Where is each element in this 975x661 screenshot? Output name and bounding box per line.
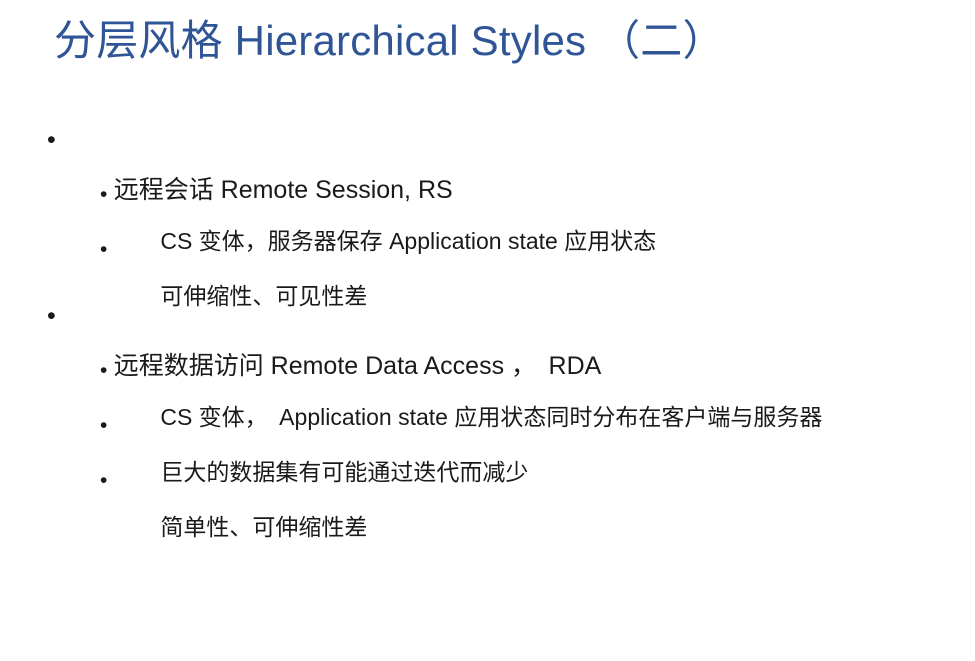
list-item: • 简单性、可伸缩性差 bbox=[0, 470, 975, 525]
slide-body: • 远程会话 Remote Session, RS • CS 变体，服务器保存 … bbox=[0, 128, 975, 525]
list-item: • 可伸缩性、可见性差 bbox=[0, 239, 975, 294]
bullet-marker-icon: • bbox=[47, 128, 65, 153]
bullet-marker-icon: • bbox=[100, 239, 118, 261]
bullet-marker-icon: • bbox=[100, 415, 118, 437]
list-item: • CS 变体， Application state 应用状态同时分布在客户端与… bbox=[0, 360, 975, 415]
list-item: • 远程会话 Remote Session, RS bbox=[0, 128, 975, 184]
list-item: • CS 变体，服务器保存 Application state 应用状态 bbox=[0, 184, 975, 239]
list-item-label: 简单性、可伸缩性差 bbox=[160, 514, 367, 540]
slide-canvas: 分层风格 Hierarchical Styles （二） • 远程会话 Remo… bbox=[0, 0, 975, 661]
list-item: • 巨大的数据集有可能通过迭代而减少 bbox=[0, 415, 975, 470]
bullet-marker-icon: • bbox=[100, 184, 118, 206]
bullet-marker-icon: • bbox=[47, 304, 65, 329]
bullet-marker-icon: • bbox=[100, 470, 118, 492]
list-item: • 远程数据访问 Remote Data Access ， RDA bbox=[0, 304, 975, 360]
page-title: 分层风格 Hierarchical Styles （二） bbox=[54, 14, 934, 68]
bullet-marker-icon: • bbox=[100, 360, 118, 382]
